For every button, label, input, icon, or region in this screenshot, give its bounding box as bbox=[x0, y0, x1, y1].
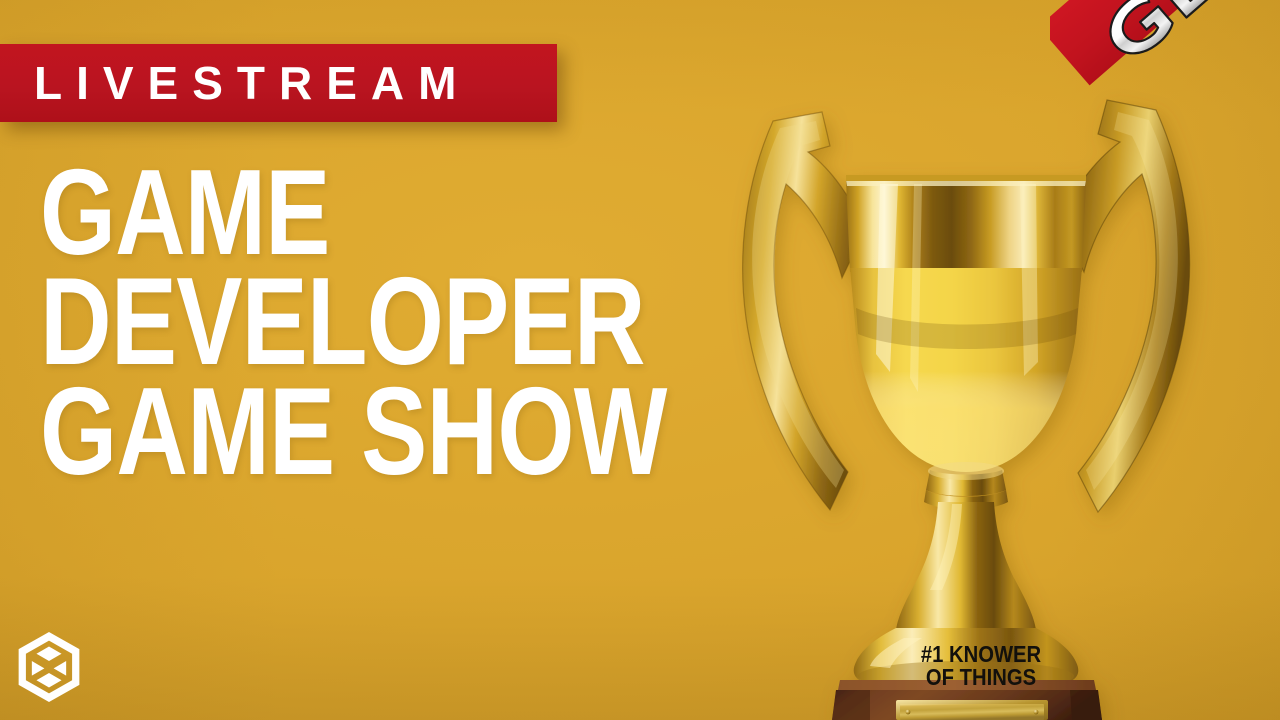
title-line-3: GAME SHOW bbox=[40, 377, 600, 487]
gdc-wordmark: 25 bbox=[1083, 0, 1280, 79]
gdc-corner-ribbon: 25 bbox=[1050, 0, 1280, 190]
page-title: GAME DEVELOPER GAME SHOW bbox=[40, 158, 740, 487]
thumbnail-canvas: #1 KNOWER OF THINGS LIVESTREAM GAME DEVE… bbox=[0, 0, 1280, 720]
livestream-label: LIVESTREAM bbox=[0, 60, 470, 106]
unity-cube-icon bbox=[16, 632, 82, 702]
livestream-banner: LIVESTREAM bbox=[0, 44, 557, 122]
title-line-1: GAME bbox=[40, 158, 600, 267]
title-line-2: DEVELOPER bbox=[40, 267, 600, 377]
